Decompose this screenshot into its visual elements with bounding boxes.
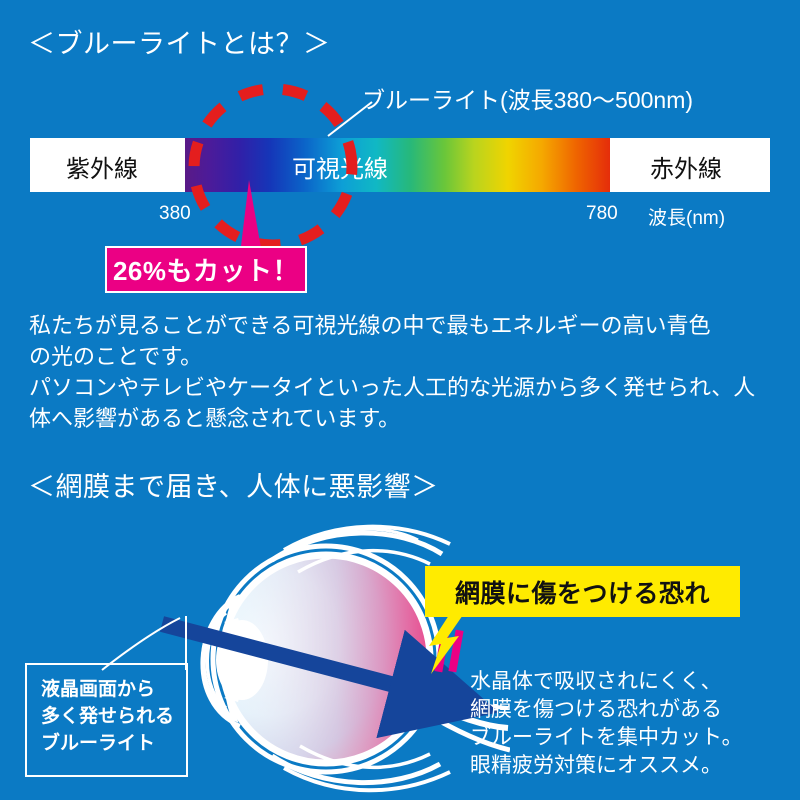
spectrum-bar: 紫外線 可視光線 赤外線 <box>30 138 770 192</box>
section-heading-retina: ＜網膜まで届き、人体に悪影響＞ <box>28 465 439 504</box>
cut-percentage-badge: 26%もカット！ <box>105 246 307 293</box>
infographic-canvas: ＜ブルーライトとは？＞ ブルーライト(波長380〜500nm) 紫外線 可視光線… <box>0 0 800 800</box>
infrared-label: 赤外線 <box>650 149 722 184</box>
ultraviolet-label: 紫外線 <box>66 149 138 184</box>
screen-source-callout: 液晶画面から 多く発せられる ブルーライト <box>25 663 188 777</box>
benefit-paragraph: 水晶体で吸収されにくく、 網膜を傷つける恐れがある ブルーライトを集中カット。 … <box>470 668 790 780</box>
retina-warning-text: 網膜に傷をつける恐れ <box>455 574 710 610</box>
screen-source-callout-text: 液晶画面から 多く発せられる ブルーライト <box>41 676 174 757</box>
description-paragraph: 私たちが見ることができる可視光線の中で最もエネルギーの高い青色 の光のことです。… <box>29 310 779 434</box>
retina-warning-badge: 網膜に傷をつける恐れ <box>425 566 740 617</box>
bluelight-range-label: ブルーライト(波長380〜500nm) <box>362 81 693 115</box>
tick-label-780: 780 <box>586 203 618 225</box>
cut-percentage-text: 26%もカット！ <box>113 251 299 288</box>
axis-unit-label: 波長(nm) <box>648 203 725 230</box>
section-heading-blue-light: ＜ブルーライトとは？＞ <box>28 22 331 61</box>
